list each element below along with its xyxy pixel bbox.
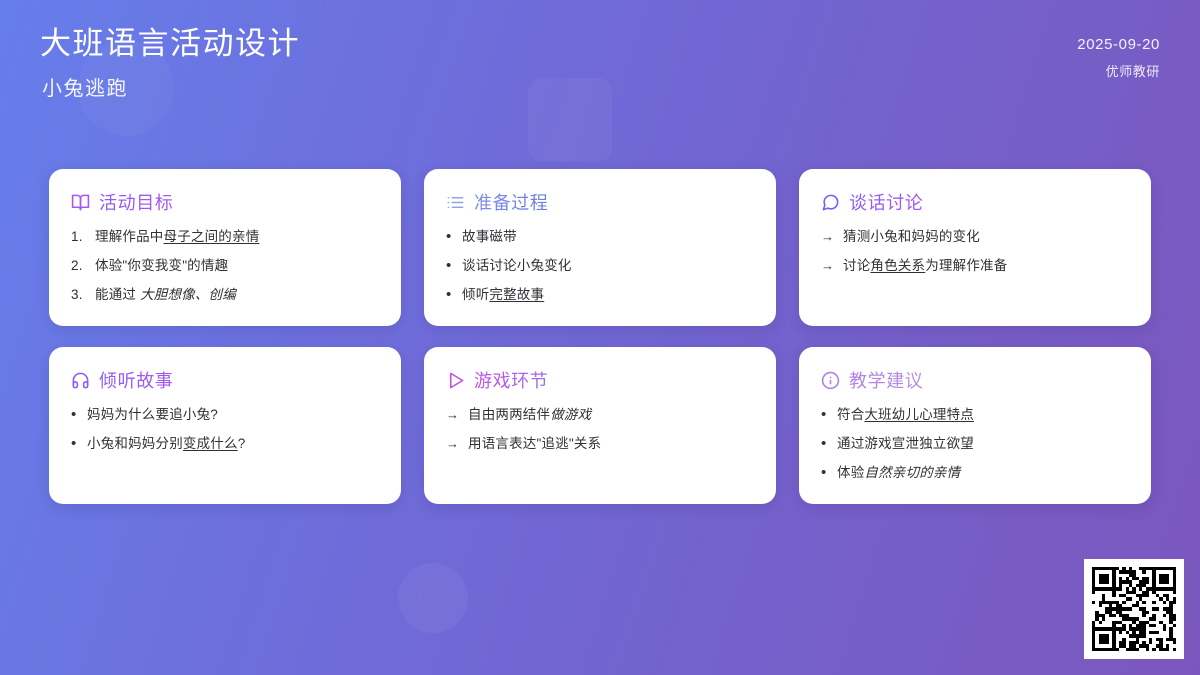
list-item: → 自由两两结伴做游戏	[446, 406, 754, 424]
card-title: 倾听故事	[99, 367, 173, 393]
info-circle-icon	[821, 371, 840, 390]
list-item-text: 讨论角色关系为理解作准备	[843, 257, 1007, 275]
card-list: • 符合大班幼儿心理特点 • 通过游戏宣泄独立欲望 • 体验自然亲切的亲情	[821, 406, 1129, 483]
list-marker: •	[71, 407, 80, 422]
list-item-text: 倾听完整故事	[462, 286, 544, 304]
card-title: 谈话讨论	[849, 189, 923, 215]
list-marker: •	[446, 287, 455, 302]
headphones-icon	[71, 371, 90, 390]
list-item: 3. 能通过 大胆想像、创编	[71, 286, 379, 304]
list-item: • 体验自然亲切的亲情	[821, 464, 1129, 482]
card-header: 活动目标	[71, 189, 379, 215]
list-item: • 通过游戏宣泄独立欲望	[821, 435, 1129, 453]
list-item: 1. 理解作品中母子之间的亲情	[71, 228, 379, 246]
list-item-text: 体验"你变我变"的情趣	[95, 257, 228, 275]
list-item: → 讨论角色关系为理解作准备	[821, 257, 1129, 275]
play-triangle-icon	[446, 371, 465, 390]
list-marker: •	[446, 229, 455, 244]
card-header: 倾听故事	[71, 367, 379, 393]
card-header: 谈话讨论	[821, 189, 1129, 215]
card-discussion: 谈话讨论 → 猜测小兔和妈妈的变化 → 讨论角色关系为理解作准备	[799, 169, 1151, 326]
list-item: • 谈话讨论小兔变化	[446, 257, 754, 275]
list-marker: •	[821, 436, 830, 451]
slide-header: 大班语言活动设计 小兔逃跑 2025-09-20 优师教研	[0, 0, 1200, 150]
card-header: 准备过程	[446, 189, 754, 215]
list-item-text: 谈话讨论小兔变化	[462, 257, 572, 275]
card-list: 1. 理解作品中母子之间的亲情 2. 体验"你变我变"的情趣 3. 能通过 大胆…	[71, 228, 379, 305]
card-title: 游戏环节	[474, 367, 548, 393]
list-item: → 用语言表达"追逃"关系	[446, 435, 754, 453]
list-item: • 小兔和妈妈分别变成什么?	[71, 435, 379, 453]
card-title: 准备过程	[474, 189, 548, 215]
card-list: → 猜测小兔和妈妈的变化 → 讨论角色关系为理解作准备	[821, 228, 1129, 275]
list-item-text: 猜测小兔和妈妈的变化	[843, 228, 980, 246]
list-marker: →	[821, 228, 836, 246]
card-grid: 活动目标 1. 理解作品中母子之间的亲情 2. 体验"你变我变"的情趣 3. 能…	[49, 169, 1154, 504]
header-organization: 优师教研	[1106, 61, 1160, 80]
list-marker: 3.	[71, 286, 88, 304]
list-item-text: 用语言表达"追逃"关系	[468, 435, 601, 453]
list-item-text: 理解作品中母子之间的亲情	[95, 228, 259, 246]
card-header: 游戏环节	[446, 367, 754, 393]
header-left-group: 大班语言活动设计 小兔逃跑	[40, 26, 300, 101]
card-preparation: 准备过程 • 故事磁带 • 谈话讨论小兔变化 • 倾听完整故事	[424, 169, 776, 326]
list-item: • 符合大班幼儿心理特点	[821, 406, 1129, 424]
list-item: 2. 体验"你变我变"的情趣	[71, 257, 379, 275]
header-right-group: 2025-09-20 优师教研	[1077, 26, 1160, 80]
list-item-text: 自由两两结伴做游戏	[468, 406, 591, 424]
page-title: 大班语言活动设计	[40, 26, 300, 62]
card-list: → 自由两两结伴做游戏 → 用语言表达"追逃"关系	[446, 406, 754, 453]
list-item-text: 通过游戏宣泄独立欲望	[837, 435, 974, 453]
card-list: • 妈妈为什么要追小兔? • 小兔和妈妈分别变成什么?	[71, 406, 379, 453]
list-marker: •	[446, 258, 455, 273]
card-title: 活动目标	[99, 189, 173, 215]
list-item-text: 能通过 大胆想像、创编	[95, 286, 236, 304]
list-item: • 倾听完整故事	[446, 286, 754, 304]
list-marker: 2.	[71, 257, 88, 275]
list-marker: →	[821, 257, 836, 275]
list-item-text: 妈妈为什么要追小兔?	[87, 406, 218, 424]
card-list: • 故事磁带 • 谈话讨论小兔变化 • 倾听完整故事	[446, 228, 754, 305]
qr-code[interactable]	[1084, 559, 1184, 659]
message-square-icon	[821, 193, 840, 212]
list-item-text: 故事磁带	[462, 228, 517, 246]
decorative-circle-lower	[398, 563, 468, 633]
header-date: 2025-09-20	[1077, 36, 1160, 53]
book-open-icon	[71, 193, 90, 212]
qr-code-matrix	[1092, 567, 1176, 651]
slide-root: 大班语言活动设计 小兔逃跑 2025-09-20 优师教研 活动目标	[0, 0, 1200, 675]
card-header: 教学建议	[821, 367, 1129, 393]
list-item: → 猜测小兔和妈妈的变化	[821, 228, 1129, 246]
list-marker: •	[821, 465, 830, 480]
list-item-text: 符合大班幼儿心理特点	[837, 406, 974, 424]
card-title: 教学建议	[849, 367, 923, 393]
list-marker: →	[446, 435, 461, 453]
list-item: • 妈妈为什么要追小兔?	[71, 406, 379, 424]
list-item-text: 小兔和妈妈分别变成什么?	[87, 435, 245, 453]
list-marker: 1.	[71, 228, 88, 246]
card-listening: 倾听故事 • 妈妈为什么要追小兔? • 小兔和妈妈分别变成什么?	[49, 347, 401, 504]
list-marker: •	[821, 407, 830, 422]
list-marker: →	[446, 406, 461, 424]
list-item: • 故事磁带	[446, 228, 754, 246]
list-icon	[446, 193, 465, 212]
list-item-text: 体验自然亲切的亲情	[837, 464, 960, 482]
list-marker: •	[71, 436, 80, 451]
card-activity-goals: 活动目标 1. 理解作品中母子之间的亲情 2. 体验"你变我变"的情趣 3. 能…	[49, 169, 401, 326]
page-subtitle: 小兔逃跑	[40, 72, 300, 101]
card-teaching-advice: 教学建议 • 符合大班幼儿心理特点 • 通过游戏宣泄独立欲望 • 体验自然亲切的…	[799, 347, 1151, 504]
card-game-section: 游戏环节 → 自由两两结伴做游戏 → 用语言表达"追逃"关系	[424, 347, 776, 504]
